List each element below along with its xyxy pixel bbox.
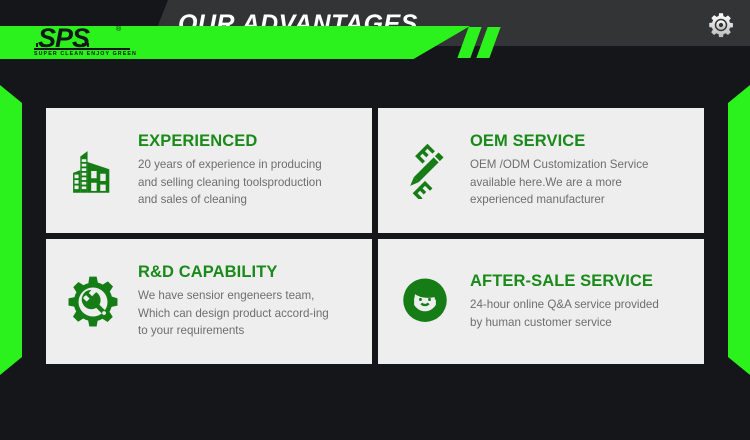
card-description: We have sensior engeneers team, Which ca… xyxy=(138,287,358,340)
advantage-card-rd-capability[interactable]: R&D CAPABILITY We have sensior engeneers… xyxy=(46,239,372,364)
card-body: EXPERIENCED 20 years of experience in pr… xyxy=(138,132,358,209)
card-desc-line: 20 years of experience in producing xyxy=(138,156,358,174)
gear-wrench-icon xyxy=(64,273,122,331)
advantage-card-oem-service[interactable]: OEM SERVICE OEM /ODM Customization Servi… xyxy=(378,108,704,233)
logo-tick-mid xyxy=(82,43,84,47)
logo-tick-left xyxy=(36,43,38,47)
pencil-ruler-icon xyxy=(397,143,453,199)
card-desc-line: We have sensior engeneers team, xyxy=(138,287,358,305)
card-title: R&D CAPABILITY xyxy=(138,263,358,282)
card-desc-line: by human customer service xyxy=(470,314,690,332)
card-icon-slot xyxy=(62,140,124,202)
card-description: 24-hour online Q&A service provided by h… xyxy=(470,296,690,331)
gear-icon xyxy=(706,10,736,40)
card-body: AFTER-SALE SERVICE 24-hour online Q&A se… xyxy=(470,272,690,331)
card-desc-line: 24-hour online Q&A service provided xyxy=(470,296,690,314)
logo-tick-mid2 xyxy=(87,43,89,47)
left-accent-bar xyxy=(0,85,22,375)
card-description: 20 years of experience in producing and … xyxy=(138,156,358,209)
card-title: EXPERIENCED xyxy=(138,132,358,151)
logo-tagline: SUPER CLEAN ENJOY GREEN xyxy=(34,50,136,58)
header: OUR ADVANTAGES SPS ® SUPER CLEAN ENJOY G… xyxy=(0,0,750,72)
building-factory-icon xyxy=(64,142,122,200)
card-body: OEM SERVICE OEM /ODM Customization Servi… xyxy=(470,132,690,209)
card-desc-line: and sales of cleaning xyxy=(138,191,358,209)
card-title: OEM SERVICE xyxy=(470,132,690,151)
card-description: OEM /ODM Customization Service available… xyxy=(470,156,690,209)
advantages-banner: OUR ADVANTAGES SPS ® SUPER CLEAN ENJOY G… xyxy=(0,0,750,440)
advantage-card-after-sale-service[interactable]: AFTER-SALE SERVICE 24-hour online Q&A se… xyxy=(378,239,704,364)
right-accent-bar xyxy=(728,85,750,375)
card-desc-line: OEM /ODM Customization Service xyxy=(470,156,690,174)
card-title: AFTER-SALE SERVICE xyxy=(470,272,690,291)
card-desc-line: to your requirements xyxy=(138,322,358,340)
settings-button[interactable] xyxy=(706,10,736,40)
logo-tick-left2 xyxy=(41,43,43,47)
card-desc-line: Which can design product accord-ing xyxy=(138,305,358,323)
logo[interactable]: SPS ® SUPER CLEAN ENJOY GREEN xyxy=(30,26,140,60)
logo-registered-mark: ® xyxy=(116,26,121,33)
headset-support-icon xyxy=(396,273,454,331)
card-body: R&D CAPABILITY We have sensior engeneers… xyxy=(138,263,358,340)
card-icon-slot xyxy=(62,271,124,333)
card-desc-line: and selling cleaning toolsproduction xyxy=(138,174,358,192)
card-icon-slot xyxy=(394,140,456,202)
card-desc-line: available here.We are a more xyxy=(470,174,690,192)
advantage-cards: EXPERIENCED 20 years of experience in pr… xyxy=(46,108,704,383)
advantage-card-experienced[interactable]: EXPERIENCED 20 years of experience in pr… xyxy=(46,108,372,233)
card-desc-line: experienced manufacturer xyxy=(470,191,690,209)
card-icon-slot xyxy=(394,271,456,333)
